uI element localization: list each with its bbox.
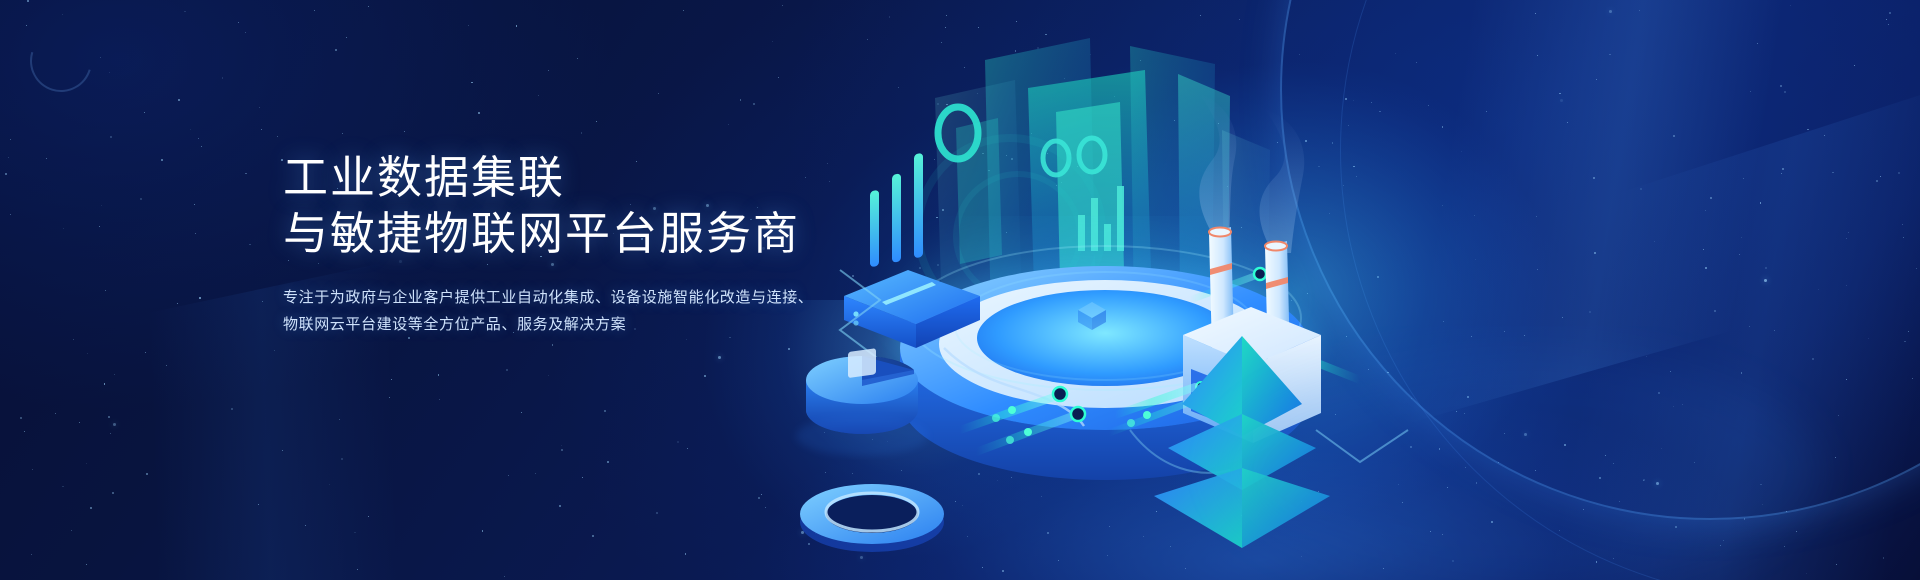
star — [656, 512, 658, 514]
star — [404, 131, 405, 132]
star — [113, 423, 116, 426]
star — [482, 530, 483, 531]
star — [55, 413, 56, 414]
headline-line-2: 与敏捷物联网平台服务商 — [283, 206, 813, 262]
star — [31, 554, 32, 555]
hero-illustration — [760, 0, 1920, 580]
star — [604, 410, 606, 412]
star — [194, 204, 195, 205]
star — [5, 173, 7, 175]
star — [346, 37, 347, 38]
star — [354, 532, 355, 533]
hero-banner: 工业数据集联 与敏捷物联网平台服务商 专注于为政府与企业客户提供工业自动化集成、… — [0, 0, 1920, 580]
star — [108, 416, 110, 418]
star — [683, 10, 684, 11]
star — [90, 507, 92, 509]
star — [105, 290, 106, 291]
router-antennas — [870, 153, 923, 267]
star — [112, 492, 114, 494]
hero-copy: 工业数据集联 与敏捷物联网平台服务商 专注于为政府与企业客户提供工业自动化集成、… — [283, 150, 813, 338]
star — [468, 25, 469, 26]
star — [582, 477, 583, 478]
star — [329, 484, 330, 485]
star — [282, 450, 283, 451]
star — [274, 350, 275, 351]
star — [231, 408, 233, 410]
star — [559, 505, 561, 507]
star — [548, 375, 549, 376]
star — [145, 352, 146, 353]
star — [46, 158, 47, 159]
star — [100, 57, 101, 58]
star — [178, 99, 180, 101]
star — [438, 374, 439, 375]
star — [607, 461, 609, 463]
star — [10, 214, 11, 215]
star — [86, 463, 87, 464]
star — [516, 25, 517, 26]
star — [195, 233, 196, 234]
star — [686, 339, 687, 340]
star — [10, 139, 11, 140]
star — [32, 469, 33, 470]
ring-pedestal — [800, 484, 944, 552]
cylinder-label — [848, 348, 876, 378]
star — [110, 433, 111, 434]
star — [685, 553, 686, 554]
star — [508, 475, 509, 476]
headline-line-1: 工业数据集联 — [283, 150, 813, 206]
star — [471, 82, 472, 83]
star — [63, 228, 64, 229]
star — [314, 10, 315, 11]
subcopy-line-1: 专注于为政府与企业客户提供工业自动化集成、设备设施智能化改造与连接、 — [283, 284, 813, 311]
star — [71, 530, 72, 531]
star — [592, 535, 594, 537]
star — [368, 516, 369, 517]
star — [277, 136, 278, 137]
star — [261, 129, 262, 130]
star — [146, 473, 148, 475]
star — [753, 103, 755, 105]
star — [596, 121, 597, 122]
star — [114, 374, 115, 375]
star — [335, 49, 337, 51]
star — [561, 449, 563, 451]
star — [478, 112, 480, 114]
star — [506, 369, 508, 371]
star — [718, 356, 721, 359]
star — [73, 339, 74, 340]
star — [24, 431, 25, 432]
pedestal-hole — [826, 495, 918, 533]
star — [342, 133, 343, 134]
star — [521, 412, 522, 413]
star — [504, 576, 505, 577]
star — [161, 159, 163, 161]
star — [245, 32, 246, 33]
star — [552, 344, 553, 345]
star — [20, 417, 22, 419]
star — [677, 441, 679, 443]
star — [222, 77, 223, 78]
star — [144, 112, 145, 113]
star — [535, 473, 536, 474]
star — [166, 365, 167, 366]
star — [538, 95, 539, 96]
star — [581, 132, 582, 133]
star — [439, 399, 440, 400]
star — [62, 486, 63, 487]
star — [577, 58, 578, 59]
star — [704, 375, 706, 377]
star — [249, 244, 250, 245]
star — [389, 397, 390, 398]
subcopy-line-2: 物联网云平台建设等全方位产品、服务及解决方案 — [283, 311, 813, 338]
star — [740, 99, 741, 100]
star — [658, 93, 659, 94]
star — [368, 6, 369, 7]
star — [245, 173, 246, 174]
star — [62, 14, 63, 15]
star — [109, 72, 110, 73]
star — [262, 301, 263, 302]
star — [8, 157, 9, 158]
star — [104, 383, 105, 384]
star — [27, 0, 29, 2]
star — [728, 124, 729, 125]
star — [26, 25, 27, 26]
star — [79, 422, 80, 423]
star — [184, 11, 185, 12]
star — [341, 458, 343, 460]
star — [99, 226, 100, 227]
star — [305, 525, 306, 526]
star — [140, 198, 142, 200]
star — [177, 303, 178, 304]
star — [238, 22, 239, 23]
star — [339, 419, 340, 420]
star — [391, 379, 392, 380]
star — [190, 129, 191, 130]
crescent-moon-icon — [19, 19, 103, 103]
star — [548, 70, 549, 71]
star — [201, 146, 202, 147]
star — [561, 445, 562, 446]
star — [110, 136, 112, 138]
star — [687, 448, 688, 449]
star — [87, 353, 88, 354]
star — [86, 564, 87, 565]
star — [258, 504, 259, 505]
star — [357, 569, 358, 570]
star — [101, 205, 102, 206]
star — [259, 107, 260, 108]
star — [199, 297, 200, 298]
star — [198, 138, 199, 139]
